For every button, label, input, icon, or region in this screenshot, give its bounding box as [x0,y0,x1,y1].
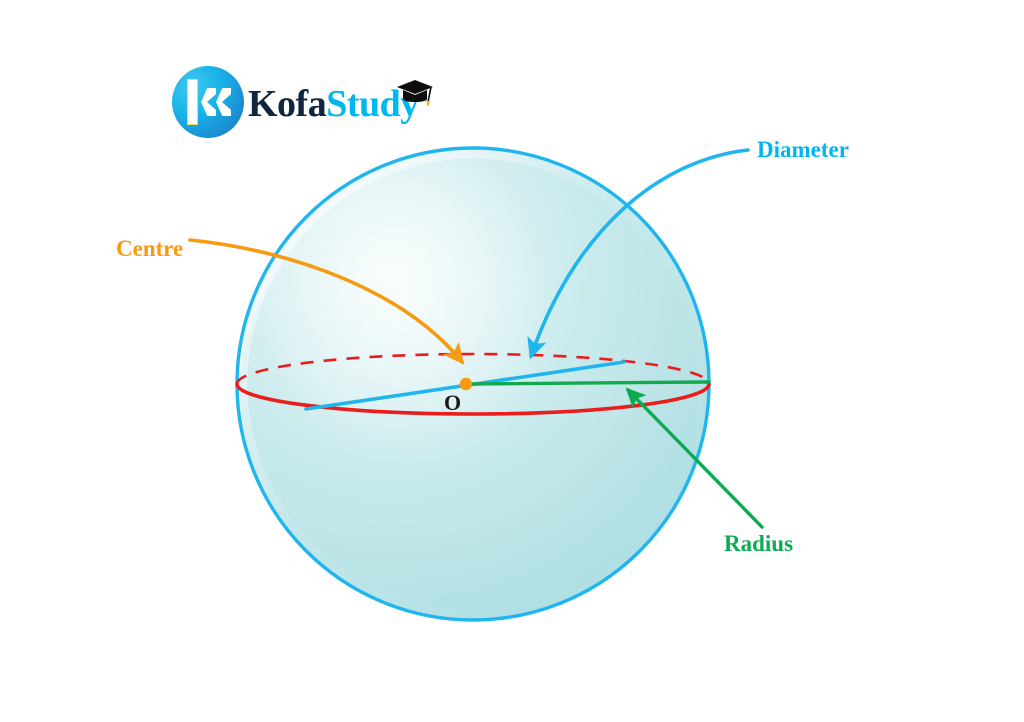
label-origin: O [444,392,461,414]
radius-line [466,382,709,384]
brand-word-kofa: Kofa [248,83,326,125]
label-centre: Centre [116,237,183,260]
graduation-cap-icon [395,76,435,110]
centre-point [460,378,472,390]
brand-badge-icon [172,66,244,138]
label-diameter: Diameter [757,138,849,161]
sphere-figure [0,0,1024,722]
k-chevron-icon [201,88,216,116]
k-stem-shape [187,79,198,125]
brand-wordmark: KofaStudy [248,85,419,123]
k-chevron-icon [216,88,231,116]
diagram-canvas: KofaStudy Diameter Centre Radius O [0,0,1024,722]
brand-logo[interactable]: KofaStudy [172,66,419,138]
label-radius: Radius [724,532,793,555]
